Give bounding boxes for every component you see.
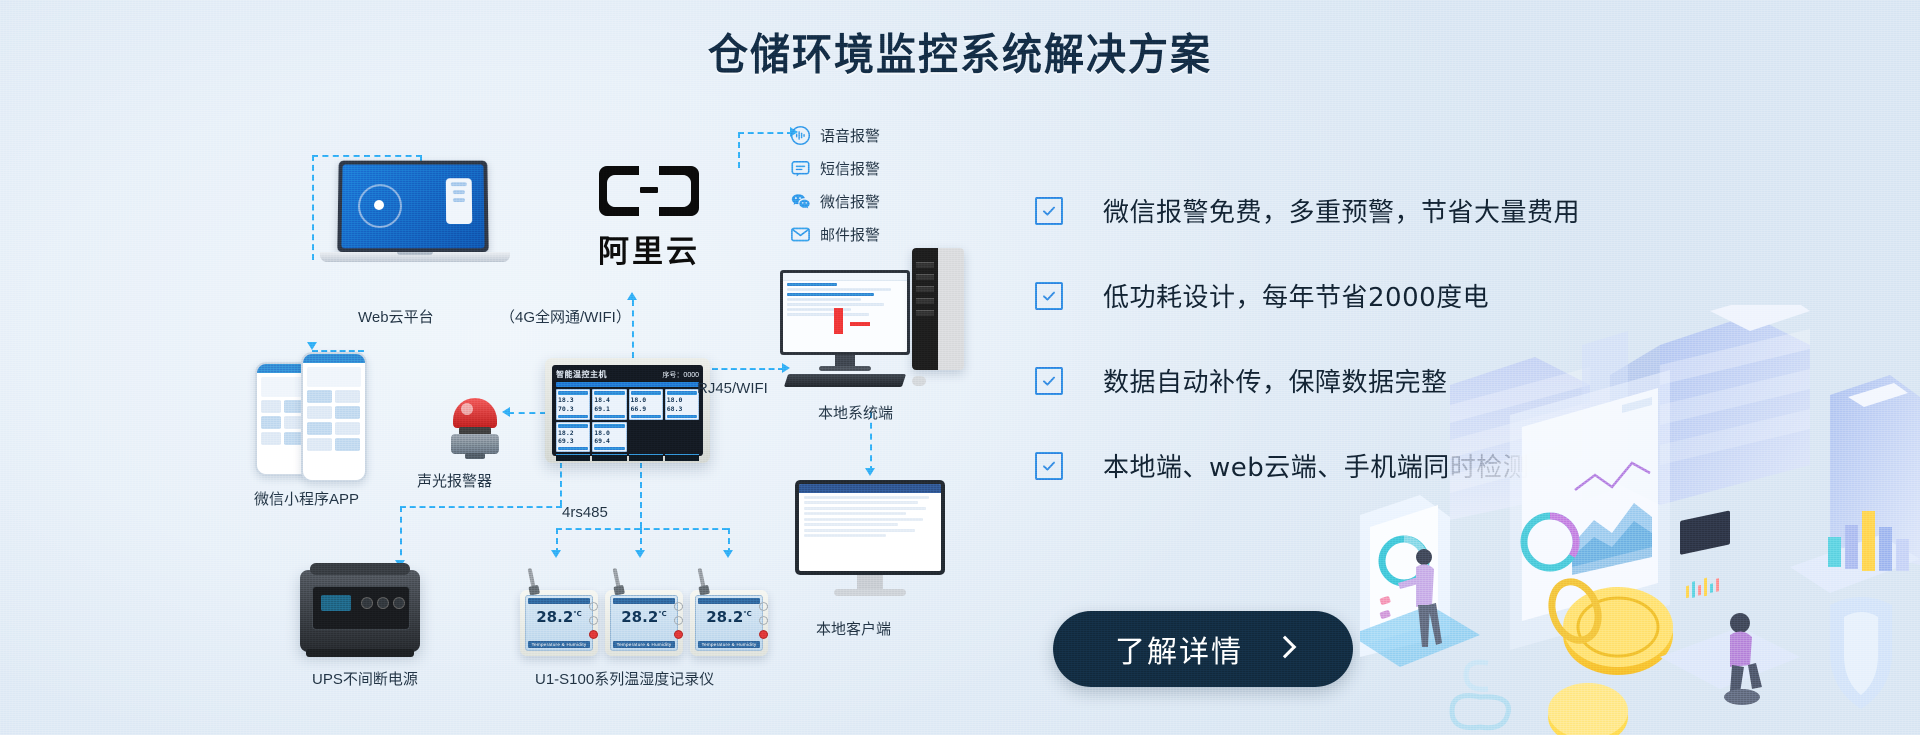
- connector-controller-cloud: [632, 300, 634, 358]
- learn-more-button[interactable]: 了解详情: [1053, 611, 1353, 687]
- sound-light-alarm-label: 声光报警器: [417, 470, 492, 491]
- alert-item-wechat[interactable]: 微信报警: [790, 188, 880, 214]
- channel-hum: 69.1: [594, 405, 624, 414]
- feature-item: 微信报警免费，多重预警，节省大量费用: [1035, 192, 1580, 229]
- feature-item: 低功耗设计，每年节省2000度电: [1035, 277, 1580, 314]
- aliyun-cloud-node: 阿里云: [574, 160, 724, 271]
- rj45-wifi-label: RJ45/WIFI: [697, 380, 768, 397]
- controller-tabbar: [556, 382, 699, 387]
- controller-channel: 18.269.3: [556, 422, 590, 453]
- connector-controller-ups-v: [560, 462, 562, 506]
- connector-controller-pc: [712, 368, 784, 370]
- network-graphic: [358, 184, 402, 228]
- web-cloud-laptop: [320, 160, 510, 270]
- feature-item: 数据自动补传，保障数据完整: [1035, 362, 1580, 399]
- checkbox-checked-icon[interactable]: [1035, 197, 1063, 225]
- sensor-device: 28.2℃ Temperature & Humidity: [690, 590, 768, 656]
- ups-handle: [310, 563, 410, 575]
- laptop-screen: [337, 161, 488, 253]
- feature-item-text: 微信报警免费，多重预警，节省大量费用: [1103, 192, 1580, 229]
- controller-header: 智能温控主机 序号：0000: [556, 369, 699, 380]
- channel-temp: 18.0: [667, 396, 697, 405]
- mobile-app-phones: [255, 352, 380, 480]
- controller-brand-text: 智能温控主机: [556, 369, 607, 380]
- rs485-label: 4rs485: [562, 504, 608, 521]
- wechat-mini-app-label: 微信小程序APP: [254, 488, 359, 509]
- checkbox-checked-icon[interactable]: [1035, 282, 1063, 310]
- temperature-controller-host: 智能温控主机 序号：0000 18.370.3 18.469.1 18.066.…: [545, 358, 710, 463]
- ups-panel: [312, 586, 410, 630]
- network-type-label: （4G全网通/WIFI）: [500, 306, 631, 327]
- sms-alarm-icon: [790, 158, 811, 179]
- arrow-to-sensor-2: [635, 550, 645, 558]
- page-title: 仓储环境监控系统解决方案: [0, 22, 1920, 80]
- feature-item-text: 数据自动补传，保障数据完整: [1103, 362, 1448, 399]
- sensor-value: 28.2℃: [698, 610, 760, 625]
- connector-bus-h: [556, 528, 728, 530]
- sensor-lcd: 28.2℃ Temperature & Humidity: [525, 595, 593, 651]
- arrow-to-imac: [865, 468, 875, 476]
- sensor-buttons: [589, 602, 599, 644]
- imac-screen-content: [799, 484, 941, 571]
- sensor-value: 28.2℃: [613, 610, 675, 625]
- sensor-value: 28.2℃: [528, 610, 590, 625]
- arrow-to-sensor-3: [723, 550, 733, 558]
- sensor-antenna: [698, 568, 707, 592]
- sensors-label: U1-S100系列温湿度记录仪: [535, 668, 714, 689]
- laptop-base: [320, 252, 510, 262]
- sensor-device: 28.2℃ Temperature & Humidity: [605, 590, 683, 656]
- imac-screen: [795, 480, 945, 575]
- ups-port: [361, 597, 373, 609]
- learn-more-label: 了解详情: [1115, 627, 1243, 671]
- connector-laptop-top: [312, 155, 422, 157]
- web-cloud-platform-label: Web云平台: [358, 306, 434, 327]
- banner-stage: 仓储环境监控系统解决方案: [0, 0, 1920, 735]
- controller-channel: 18.068.3: [665, 389, 699, 420]
- pc-keyboard: [784, 374, 906, 387]
- alert-item-label: 语音报警: [820, 125, 880, 146]
- connector-laptop-phones: [312, 155, 314, 260]
- chevron-right-icon: [1277, 637, 1291, 661]
- sensor-caption: Temperature & Humidity: [528, 641, 590, 648]
- alert-item-voice[interactable]: 语音报警: [790, 122, 880, 148]
- phone-graphic: [446, 178, 472, 224]
- channel-temp: 18.3: [558, 396, 588, 405]
- channel-temp: 18.2: [558, 429, 588, 438]
- sensor-antenna: [613, 568, 622, 592]
- aliyun-logo-icon: [593, 160, 705, 222]
- pc-screen: [783, 273, 907, 352]
- alert-item-email[interactable]: 邮件报警: [790, 221, 880, 247]
- local-client-monitor: [795, 480, 945, 602]
- ups-foot: [306, 649, 414, 657]
- siren-stand: [465, 453, 485, 459]
- controller-channel: 18.469.1: [592, 389, 626, 420]
- sensor-device: 28.2℃ Temperature & Humidity: [520, 590, 598, 656]
- checkbox-checked-icon[interactable]: [1035, 452, 1063, 480]
- sensor-caption: Temperature & Humidity: [613, 641, 675, 648]
- channel-temp: 18.0: [631, 396, 661, 405]
- ups-port: [393, 597, 405, 609]
- arrow-to-sensor-1: [551, 550, 561, 558]
- wechat-alarm-icon: [790, 191, 811, 212]
- feature-item-text: 本地端、web云端、手机端同时检测: [1103, 447, 1529, 484]
- local-client-label: 本地客户端: [816, 618, 891, 639]
- connector-controller-siren: [508, 412, 546, 414]
- alert-item-label: 邮件报警: [820, 224, 880, 245]
- phone-primary: [301, 352, 367, 482]
- controller-sparklines: [556, 454, 699, 461]
- local-system-pc: [780, 270, 970, 405]
- pc-monitor: [780, 270, 910, 355]
- laptop-screen-content: [341, 165, 484, 249]
- arrow-to-phones: [307, 342, 317, 350]
- alert-item-label: 微信报警: [820, 191, 880, 212]
- channel-temp: 18.0: [594, 429, 624, 438]
- alert-item-label: 短信报警: [820, 158, 880, 179]
- sound-light-alarm-device: [445, 398, 505, 460]
- local-system-label: 本地系统端: [818, 402, 893, 423]
- connector-bus-v: [640, 462, 642, 528]
- channel-hum: 66.9: [631, 405, 661, 414]
- email-alarm-icon: [790, 224, 811, 245]
- feature-list: 微信报警免费，多重预警，节省大量费用 低功耗设计，每年节省2000度电 数据自动…: [1035, 192, 1580, 532]
- connector-controller-ups-h: [400, 506, 562, 508]
- ups-power-supply: [300, 570, 420, 652]
- sensor-buttons: [759, 602, 769, 644]
- ups-label: UPS不间断电源: [312, 668, 418, 689]
- controller-channel: 18.066.9: [629, 389, 663, 420]
- channel-temp: 18.4: [594, 396, 624, 405]
- channel-hum: 69.3: [558, 437, 588, 446]
- connector-cloud-alerts: [738, 132, 793, 134]
- alert-channel-list: 语音报警 短信报警 微信报警: [790, 122, 880, 254]
- channel-hum: 68.3: [667, 405, 697, 414]
- page-title-text: 仓储环境监控系统解决方案: [708, 20, 1212, 83]
- connector-cloud-alerts-v: [738, 132, 740, 168]
- controller-serial-text: 序号：0000: [662, 370, 699, 380]
- siren-dome: [453, 398, 497, 428]
- ups-display: [321, 595, 351, 611]
- sensor-lcd: 28.2℃ Temperature & Humidity: [610, 595, 678, 651]
- controller-screen: 智能温控主机 序号：0000 18.370.3 18.469.1 18.066.…: [552, 365, 703, 456]
- controller-channel: 18.370.3: [556, 389, 590, 420]
- voice-alarm-icon: [790, 125, 811, 146]
- sensor-lcd: 28.2℃ Temperature & Humidity: [695, 595, 763, 651]
- connector-ups-v: [400, 506, 402, 566]
- sensor-buttons: [674, 602, 684, 644]
- feature-item: 本地端、web云端、手机端同时检测: [1035, 447, 1580, 484]
- sensor-antenna: [528, 568, 537, 592]
- channel-hum: 69.4: [594, 437, 624, 446]
- sensor-caption: Temperature & Humidity: [698, 641, 760, 648]
- pc-mouse: [912, 376, 926, 386]
- arrow-to-cloud: [627, 292, 637, 300]
- ups-port: [377, 597, 389, 609]
- controller-channel-grid: 18.370.3 18.469.1 18.066.9 18.068.3 18.2…: [556, 389, 699, 452]
- feature-item-text: 低功耗设计，每年节省2000度电: [1103, 277, 1489, 314]
- controller-channel: 18.069.4: [592, 422, 626, 453]
- checkbox-checked-icon[interactable]: [1035, 367, 1063, 395]
- siren-base: [451, 434, 499, 454]
- alert-item-sms[interactable]: 短信报警: [790, 155, 880, 181]
- channel-hum: 70.3: [558, 405, 588, 414]
- pc-tower: [912, 248, 964, 370]
- aliyun-brand-text: 阿里云: [574, 226, 724, 271]
